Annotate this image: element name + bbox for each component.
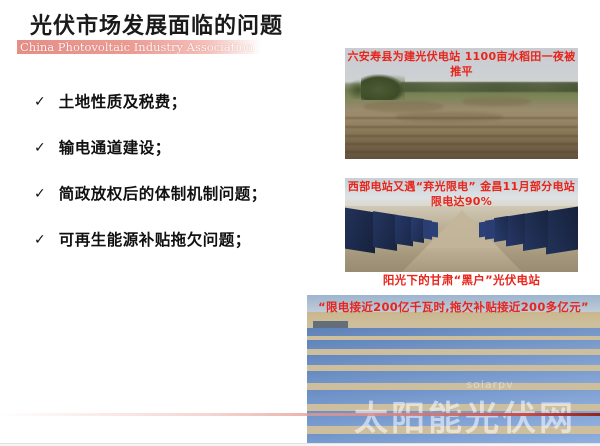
- list-item-label: 输电通道建设；: [59, 138, 171, 158]
- desert-solar-farm-photo: [307, 295, 600, 446]
- list-item-label: 可再生能源补贴拖欠问题；: [59, 230, 251, 250]
- list-item: ✓ 输电通道建设；: [34, 138, 324, 158]
- list-item-label: 土地性质及税费；: [59, 92, 187, 112]
- tree-icon: [347, 79, 369, 99]
- accent-divider: [0, 413, 600, 416]
- page-title: 光伏市场发展面临的问题: [30, 8, 283, 40]
- checkmark-icon: ✓: [34, 184, 46, 204]
- list-item-label: 简政放权后的体制机制问题；: [59, 184, 267, 204]
- photo-caption: 西部电站又遇“弃光限电” 金昌11月部分电站限电达90%: [347, 180, 576, 209]
- photo-caption: “限电接近200亿千瓦时,拖欠补贴接近200多亿元”: [309, 300, 598, 315]
- bullet-list: ✓ 土地性质及税费； ✓ 输电通道建设； ✓ 简政放权后的体制机制问题； ✓ 可…: [34, 92, 324, 276]
- list-item: ✓ 可再生能源补贴拖欠问题；: [34, 230, 324, 250]
- photo-caption: 阳光下的甘肃“黑户”光伏电站: [345, 273, 578, 288]
- ground: [345, 248, 578, 272]
- list-item: ✓ 土地性质及税费；: [34, 92, 324, 112]
- tree-line: [401, 82, 578, 92]
- checkmark-icon: ✓: [34, 92, 46, 112]
- checkmark-icon: ✓: [34, 230, 46, 250]
- checkmark-icon: ✓: [34, 138, 46, 158]
- photo-caption: 六安寿县为建光伏电站 1100亩水稻田一夜被推平: [347, 50, 576, 79]
- list-item: ✓ 简政放权后的体制机制问题；: [34, 184, 324, 204]
- presentation-slide: 光伏市场发展面临的问题 China Photovoltaic Industry …: [0, 0, 600, 446]
- subtitle-text: China Photovoltaic Industry Association: [20, 40, 270, 54]
